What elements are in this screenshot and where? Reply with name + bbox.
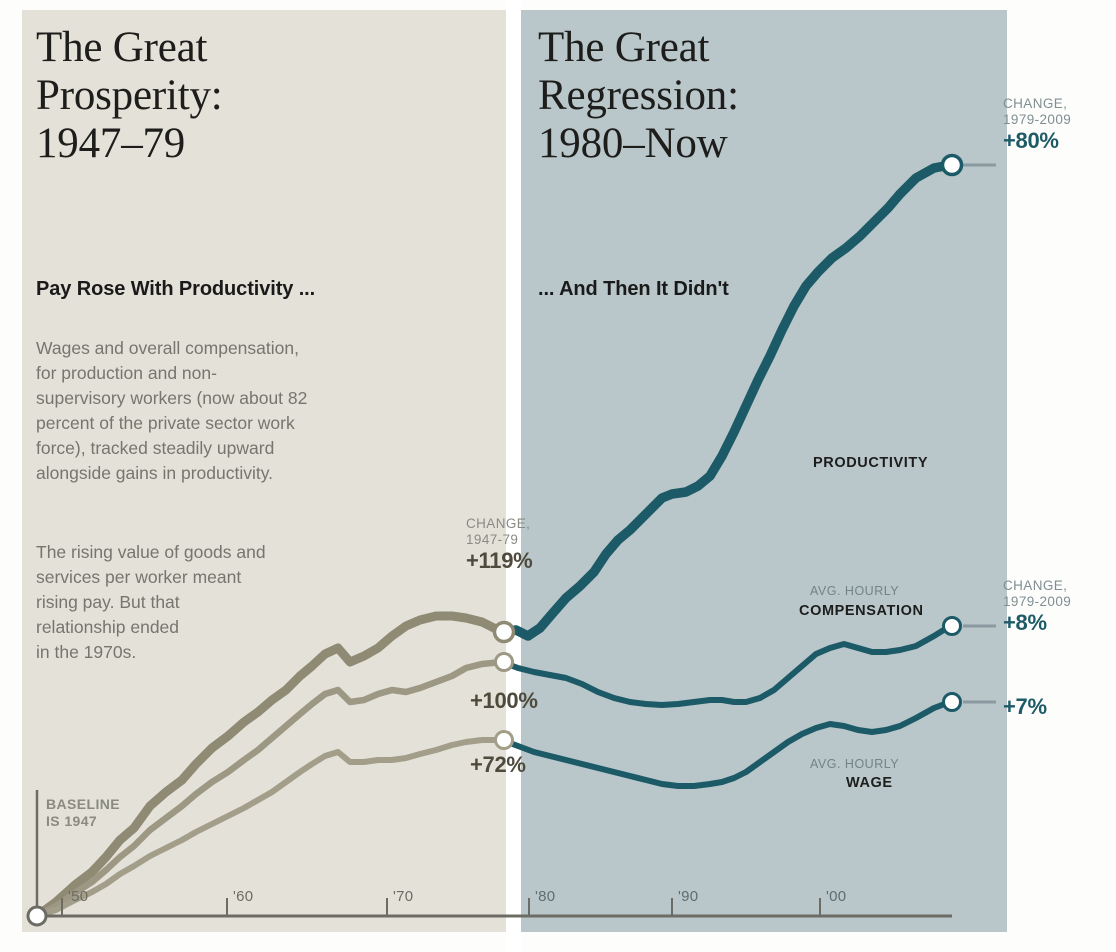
series-label-productivity: PRODUCTIVITY (813, 455, 928, 471)
annotation-value: +100% (470, 688, 538, 714)
annotation-wage-1947-79: +72% (470, 752, 526, 778)
annotation-kicker: CHANGE, 1947-79 (466, 516, 532, 548)
annotation-compensation-1979-2009: CHANGE, 1979-2009 (1003, 578, 1071, 610)
annotation-wage-1979-2009: +7% (1003, 694, 1047, 720)
annotation-compensation-value: +8% (1003, 610, 1047, 636)
series-label-compensation-kicker: AVG. HOURLY (810, 584, 899, 598)
series-label-wage-kicker: AVG. HOURLY (810, 757, 899, 771)
x-axis-ticks (62, 898, 820, 916)
annotation-kicker: CHANGE, 1979-2009 (1003, 578, 1071, 610)
annotation-value: +119% (466, 548, 532, 574)
baseline-note: BASELINE IS 1947 (46, 796, 120, 830)
body-paragraph-1: Wages and overall compensation, for prod… (36, 336, 326, 486)
series-label-wage: WAGE (846, 775, 893, 791)
annotation-productivity-1979-2009: CHANGE, 1979-2009 +80% (1003, 96, 1071, 154)
infographic-root: The Great Prosperity: 1947–79 The Great … (0, 0, 1116, 952)
annotation-kicker: CHANGE, 1979-2009 (1003, 96, 1071, 128)
tick-label-60: '60 (233, 888, 253, 905)
subhead-regression: ... And Then It Didn't (538, 278, 729, 301)
tick-label-80: '80 (535, 888, 555, 905)
line-productivity-right (502, 165, 950, 636)
body-paragraph-2: The rising value of goods and services p… (36, 540, 326, 665)
annotation-change-1947-79: CHANGE, 1947-79 +119% (466, 516, 532, 574)
annotation-compensation-1947-79: +100% (470, 688, 538, 714)
tick-label-50: '50 (68, 888, 88, 905)
subhead-prosperity: Pay Rose With Productivity ... (36, 278, 315, 301)
annotation-value: +80% (1003, 128, 1071, 154)
series-label-compensation: COMPENSATION (799, 603, 924, 619)
headline-prosperity: The Great Prosperity: 1947–79 (36, 24, 223, 168)
headline-regression: The Great Regression: 1980–Now (538, 24, 739, 168)
tick-label-90: '90 (678, 888, 698, 905)
annotation-value: +7% (1003, 694, 1047, 720)
annotation-value: +72% (470, 752, 526, 778)
tick-label-70: '70 (393, 888, 413, 905)
leader-lines (963, 165, 996, 702)
regression-lines (502, 165, 950, 786)
annotation-value: +8% (1003, 610, 1047, 636)
tick-label-00: '00 (826, 888, 846, 905)
line-wage-right (502, 702, 950, 786)
line-compensation-right (502, 626, 950, 705)
